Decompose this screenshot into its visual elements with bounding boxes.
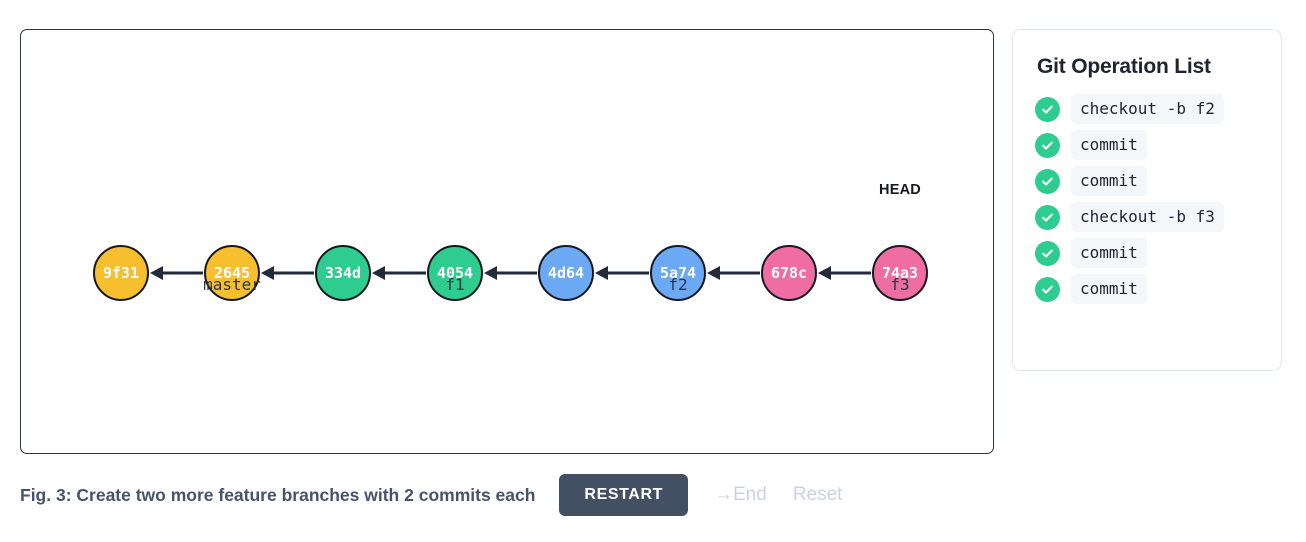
check-icon xyxy=(1035,97,1060,122)
oplist-item[interactable]: commit xyxy=(1035,166,1259,196)
commit-node[interactable]: 4d64 xyxy=(538,245,594,301)
git-graph-canvas: 9f312645master334d4054f14d645a74f2678c74… xyxy=(20,29,994,454)
oplist-command: commit xyxy=(1071,274,1147,304)
oplist-command: checkout -b f3 xyxy=(1071,202,1224,232)
commit-hash: 4d64 xyxy=(548,264,584,282)
oplist-command: commit xyxy=(1071,238,1147,268)
oplist-item[interactable]: commit xyxy=(1035,274,1259,304)
head-label: HEAD xyxy=(840,182,960,198)
oplist-command: checkout -b f2 xyxy=(1071,94,1224,124)
oplist-items: checkout -b f2commitcommitcheckout -b f3… xyxy=(1035,94,1259,304)
commit-arrowhead xyxy=(150,266,163,280)
commit-hash: 678c xyxy=(771,264,807,282)
oplist-title: Git Operation List xyxy=(1037,55,1259,79)
check-icon xyxy=(1035,205,1060,230)
commit-arrowhead xyxy=(818,266,831,280)
caption-and-controls: Fig. 3: Create two more feature branches… xyxy=(20,470,1010,520)
branch-label: f1 xyxy=(395,275,515,294)
commit-arrows xyxy=(21,30,995,455)
check-icon xyxy=(1035,277,1060,302)
commit-arrowhead xyxy=(372,266,385,280)
oplist-item[interactable]: commit xyxy=(1035,238,1259,268)
figure-caption: Fig. 3: Create two more feature branches… xyxy=(20,485,535,506)
oplist-item[interactable]: checkout -b f2 xyxy=(1035,94,1259,124)
branch-label: f2 xyxy=(618,275,738,294)
commit-node[interactable]: 678c xyxy=(761,245,817,301)
restart-button[interactable]: RESTART xyxy=(559,474,688,516)
branch-label: f3 xyxy=(840,275,960,294)
commit-hash: 334d xyxy=(325,264,361,282)
oplist-command: commit xyxy=(1071,130,1147,160)
check-icon xyxy=(1035,241,1060,266)
branch-label: master xyxy=(172,275,292,294)
end-link[interactable]: →End xyxy=(714,484,767,506)
check-icon xyxy=(1035,169,1060,194)
reset-link[interactable]: Reset xyxy=(793,484,843,506)
oplist-command: commit xyxy=(1071,166,1147,196)
git-operation-list-panel: Git Operation List checkout -b f2commitc… xyxy=(1012,29,1282,371)
oplist-item[interactable]: checkout -b f3 xyxy=(1035,202,1259,232)
commit-node[interactable]: 9f31 xyxy=(93,245,149,301)
commit-arrowhead xyxy=(595,266,608,280)
commit-node[interactable]: 334d xyxy=(315,245,371,301)
oplist-item[interactable]: commit xyxy=(1035,130,1259,160)
commit-hash: 9f31 xyxy=(103,264,139,282)
check-icon xyxy=(1035,133,1060,158)
